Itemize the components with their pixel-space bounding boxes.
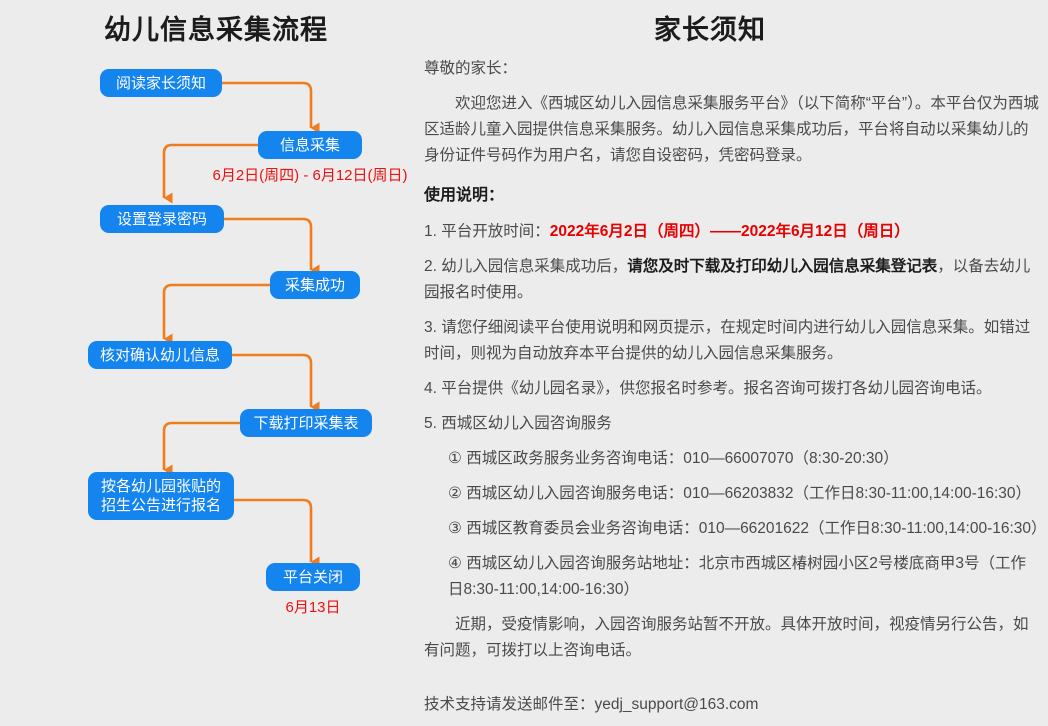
flow-note-close-date: 6月13日 <box>266 596 360 617</box>
notice-panel: 家长须知 尊敬的家长： 欢迎您进入《西城区幼儿入园信息采集服务平台》（以下简称“… <box>418 0 1048 726</box>
usage-item-2-prefix: 2. 幼儿入园信息采集成功后， <box>424 258 627 275</box>
usage-item-1: 1. 平台开放时间：2022年6月2日（周四）——2022年6月12日（周日） <box>424 219 1040 245</box>
consult-service-4: ④ 西城区幼儿入园咨询服务站地址：北京市西城区椿树园小区2号楼底商甲3号（工作日… <box>448 551 1040 603</box>
consult-service-2: ② 西城区幼儿入园咨询服务电话：010—66203832（工作日8:30-11:… <box>448 481 1040 507</box>
flow-node-info-collection[interactable]: 信息采集 <box>258 131 362 159</box>
usage-item-2-emphasis: 请您及时下载及打印幼儿入园信息采集登记表 <box>627 258 937 275</box>
usage-item-1-dates: 2022年6月2日（周四）——2022年6月12日（周日） <box>550 223 910 240</box>
usage-item-1-prefix: 1. 平台开放时间： <box>424 223 550 240</box>
consult-service-3: ③ 西城区教育委员会业务咨询电话：010—66201622（工作日8:30-11… <box>448 516 1040 542</box>
usage-item-2: 2. 幼儿入园信息采集成功后，请您及时下载及打印幼儿入园信息采集登记表，以备去幼… <box>424 254 1040 306</box>
flow-node-read-notice[interactable]: 阅读家长须知 <box>100 69 222 97</box>
flow-note-collection-period: 6月2日(周四) - 6月12日(周日) <box>205 164 415 185</box>
epidemic-notice: 近期，受疫情影响，入园咨询服务站暂不开放。具体开放时间，视疫情另行公告，如有问题… <box>424 612 1040 664</box>
flow-node-download-print-form[interactable]: 下载打印采集表 <box>240 409 372 437</box>
flow-node-platform-closed[interactable]: 平台关闭 <box>266 563 360 591</box>
technical-support-note: 技术支持请发送邮件至：yedj_support@163.com <box>424 692 758 714</box>
notice-salutation: 尊敬的家长： <box>424 56 1040 82</box>
flowchart-panel: 幼儿信息采集流程 阅读家长须知 信息采集 6月2日(周四) - 6月12日(周日… <box>0 0 418 726</box>
notice-body: 尊敬的家长： 欢迎您进入《西城区幼儿入园信息采集服务平台》（以下简称“平台”）。… <box>424 56 1040 673</box>
flowchart-title: 幼儿信息采集流程 <box>104 8 328 47</box>
usage-instructions-heading: 使用说明： <box>424 183 1040 209</box>
consult-service-1: ① 西城区政务服务业务咨询电话：010—66007070（8:30-20:30） <box>448 446 1040 472</box>
flow-node-collection-success[interactable]: 采集成功 <box>270 271 360 299</box>
flow-node-verify-info[interactable]: 核对确认幼儿信息 <box>88 341 232 369</box>
flow-node-set-password[interactable]: 设置登录密码 <box>100 205 224 233</box>
notice-intro-paragraph: 欢迎您进入《西城区幼儿入园信息采集服务平台》（以下简称“平台”）。本平台仅为西城… <box>424 91 1040 169</box>
usage-item-3: 3. 请您仔细阅读平台使用说明和网页提示，在规定时间内进行幼儿入园信息采集。如错… <box>424 315 1040 367</box>
usage-item-5: 5. 西城区幼儿入园咨询服务 <box>424 411 1040 437</box>
usage-item-4: 4. 平台提供《幼儿园名录》，供您报名时参考。报名咨询可拨打各幼儿园咨询电话。 <box>424 376 1040 402</box>
notice-title: 家长须知 <box>654 8 766 47</box>
flow-node-enroll-per-announcement[interactable]: 按各幼儿园张贴的 招生公告进行报名 <box>88 472 234 520</box>
